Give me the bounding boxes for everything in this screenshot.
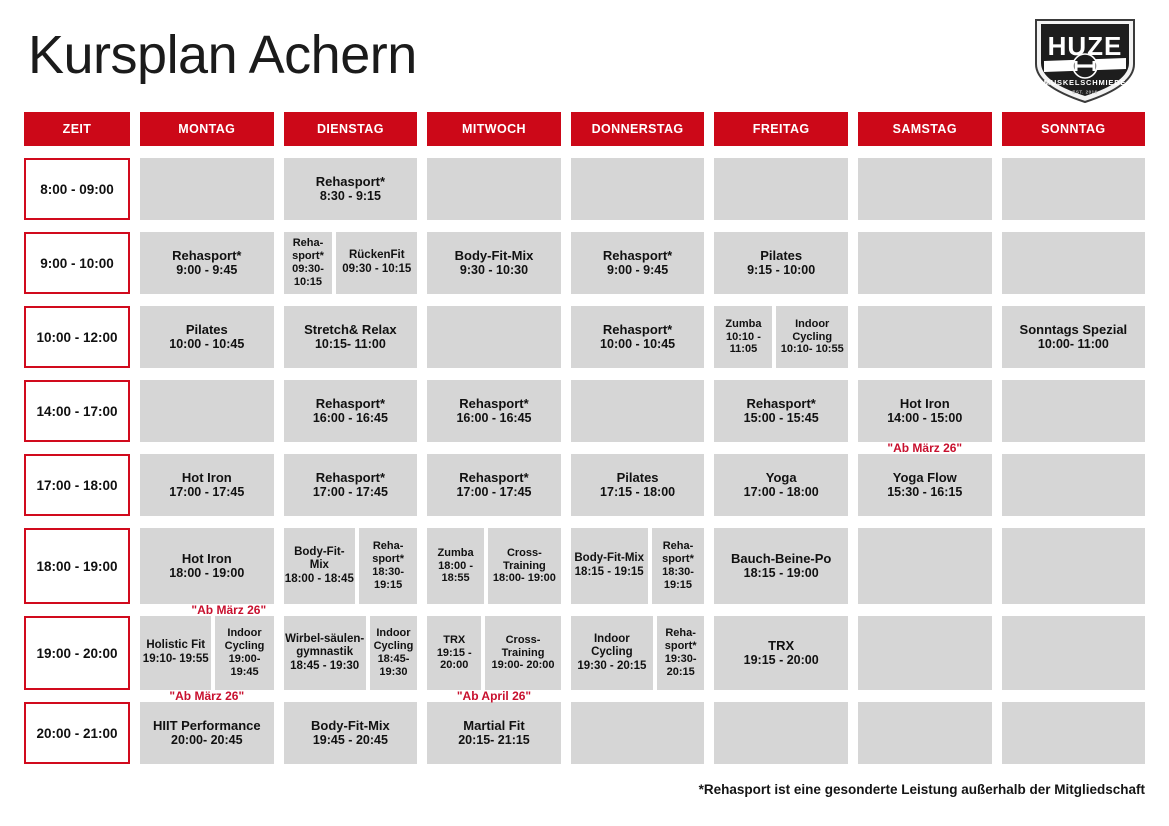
empty-slot bbox=[1002, 528, 1146, 604]
class-slot[interactable]: Pilates9:15 - 10:00 bbox=[714, 232, 848, 294]
class-slot[interactable]: Reha-sport*18:30- 19:15 bbox=[359, 528, 417, 604]
empty-slot bbox=[1002, 454, 1146, 516]
class-time: 18:45- 19:30 bbox=[371, 653, 416, 679]
cell-banner-note: "Ab März 26" bbox=[858, 441, 992, 455]
schedule-cell-freitag: Yoga17:00 - 18:00 bbox=[714, 454, 848, 516]
class-slot[interactable]: Pilates17:15 - 18:00 bbox=[571, 454, 705, 516]
class-slot[interactable]: Indoor Cycling18:45- 19:30 bbox=[370, 616, 417, 690]
class-time: 10:00 - 10:45 bbox=[600, 337, 675, 352]
schedule-cell-donnerstag: Pilates17:15 - 18:00 bbox=[571, 454, 705, 516]
class-slot[interactable]: Wirbel-säulen-gymnastik18:45 - 19:30 bbox=[284, 616, 366, 690]
empty-slot bbox=[1002, 380, 1146, 442]
column-header-zeit[interactable]: ZEIT bbox=[24, 112, 130, 146]
class-name: Indoor Cycling bbox=[777, 318, 846, 344]
class-slot[interactable]: Indoor Cycling19:30 - 20:15 bbox=[571, 616, 653, 690]
schedule-cell-dienstag: Rehasport*17:00 - 17:45 bbox=[284, 454, 418, 516]
class-name: Yoga bbox=[766, 470, 797, 485]
class-time: 20:00- 20:45 bbox=[171, 733, 243, 748]
class-time: 18:00 - 18:45 bbox=[285, 573, 354, 587]
class-time: 15:00 - 15:45 bbox=[744, 411, 819, 426]
empty-slot bbox=[858, 306, 992, 368]
class-slot[interactable]: Cross-Training19:00- 20:00 bbox=[485, 616, 560, 690]
class-time: 17:15 - 18:00 bbox=[600, 485, 675, 500]
class-name: Rehasport* bbox=[172, 248, 241, 263]
class-slot[interactable]: TRX19:15 - 20:00 bbox=[427, 616, 481, 690]
schedule-cell-sonntag bbox=[1002, 454, 1146, 516]
class-time: 10:10- 10:55 bbox=[781, 343, 844, 356]
schedule-row: 17:00 - 18:00Hot Iron17:00 - 17:45Rehasp… bbox=[24, 454, 1146, 516]
schedule-cell-montag: "Ab März 26"Holistic Fit19:10- 19:55Indo… bbox=[140, 616, 274, 690]
schedule-cell-dienstag: Body-Fit-Mix19:45 - 20:45 bbox=[284, 702, 418, 764]
class-slot[interactable]: Rehasport*9:00 - 9:45 bbox=[571, 232, 705, 294]
empty-slot bbox=[1002, 158, 1146, 220]
time-slot-label: 17:00 - 18:00 bbox=[24, 454, 130, 516]
class-time: 20:15- 21:15 bbox=[458, 733, 530, 748]
class-slot[interactable]: Hot Iron14:00 - 15:00 bbox=[858, 380, 992, 442]
class-slot[interactable]: RückenFit09:30 - 10:15 bbox=[336, 232, 417, 294]
class-time: 18:45 - 19:30 bbox=[290, 660, 359, 674]
empty-slot bbox=[140, 380, 274, 442]
class-time: 18:00 - 19:00 bbox=[169, 566, 244, 581]
class-slot[interactable]: Indoor Cycling19:00- 19:45 bbox=[215, 616, 273, 690]
class-slot[interactable]: Rehasport*9:00 - 9:45 bbox=[140, 232, 274, 294]
column-header-mittwoch[interactable]: MITWOCH bbox=[427, 112, 561, 146]
class-name: Reha-sport* bbox=[285, 237, 332, 263]
class-name: Hot Iron bbox=[900, 396, 950, 411]
empty-slot bbox=[571, 158, 705, 220]
schedule-cell-freitag bbox=[714, 158, 848, 220]
cell-banner-note: "Ab März 26" bbox=[140, 689, 274, 703]
class-time: 17:00 - 17:45 bbox=[313, 485, 388, 500]
class-time: 14:00 - 15:00 bbox=[887, 411, 962, 426]
class-name: Body-Fit-Mix bbox=[285, 546, 354, 573]
class-name: Pilates bbox=[186, 322, 228, 337]
class-time: 19:30 - 20:15 bbox=[577, 660, 646, 674]
class-slot[interactable]: Body-Fit-Mix9:30 - 10:30 bbox=[427, 232, 561, 294]
class-time: 18:30- 19:15 bbox=[360, 566, 416, 592]
class-slot[interactable]: Hot Iron18:00 - 19:00 bbox=[140, 528, 274, 604]
class-name: Zumba bbox=[438, 547, 474, 560]
class-slot[interactable]: Yoga Flow15:30 - 16:15 bbox=[858, 454, 992, 516]
schedule-row: 10:00 - 12:00Pilates10:00 - 10:45Stretch… bbox=[24, 306, 1146, 368]
class-name: Rehasport* bbox=[459, 470, 528, 485]
time-slot-label: 20:00 - 21:00 bbox=[24, 702, 130, 764]
schedule-cell-montag bbox=[140, 158, 274, 220]
class-name: Indoor Cycling bbox=[371, 627, 416, 653]
schedule-cell-dienstag: Rehasport*16:00 - 16:45 bbox=[284, 380, 418, 442]
column-header-montag[interactable]: MONTAG bbox=[140, 112, 274, 146]
schedule-cell-donnerstag: Body-Fit-Mix18:15 - 19:15Reha-sport*18:3… bbox=[571, 528, 705, 604]
class-name: Holistic Fit bbox=[146, 639, 205, 653]
class-slot[interactable]: Sonntags Spezial10:00- 11:00 bbox=[1002, 306, 1146, 368]
schedule-cell-mittwoch bbox=[427, 306, 561, 368]
empty-slot bbox=[427, 158, 561, 220]
class-name: Body-Fit-Mix bbox=[574, 552, 644, 566]
class-time: 17:00 - 18:00 bbox=[744, 485, 819, 500]
column-header-samstag[interactable]: SAMSTAG bbox=[858, 112, 992, 146]
class-slot[interactable]: Reha-sport*09:30- 10:15 bbox=[284, 232, 333, 294]
time-slot-label: 14:00 - 17:00 bbox=[24, 380, 130, 442]
schedule-grid: ZEITMONTAGDIENSTAGMITWOCHDONNERSTAGFREIT… bbox=[24, 112, 1146, 764]
class-name: Rehasport* bbox=[316, 396, 385, 411]
schedule-cell-samstag bbox=[858, 158, 992, 220]
empty-slot bbox=[858, 158, 992, 220]
class-slot[interactable]: TRX19:15 - 20:00 bbox=[714, 616, 848, 690]
schedule-cell-sonntag bbox=[1002, 158, 1146, 220]
schedule-cell-dienstag: Reha-sport*09:30- 10:15RückenFit09:30 - … bbox=[284, 232, 418, 294]
class-slot[interactable]: Rehasport*17:00 - 17:45 bbox=[427, 454, 561, 516]
empty-slot bbox=[858, 702, 992, 764]
empty-slot bbox=[571, 380, 705, 442]
empty-slot bbox=[714, 702, 848, 764]
class-time: 9:00 - 9:45 bbox=[607, 263, 668, 278]
schedule-cell-samstag: Hot Iron14:00 - 15:00 bbox=[858, 380, 992, 442]
class-time: 19:30- 20:15 bbox=[658, 653, 703, 679]
schedule-cell-donnerstag: Rehasport*9:00 - 9:45 bbox=[571, 232, 705, 294]
class-time: 19:00- 20:00 bbox=[492, 659, 555, 672]
class-name: Reha-sport* bbox=[653, 540, 704, 566]
class-name: Sonntags Spezial bbox=[1020, 322, 1128, 337]
schedule-cell-montag: Pilates10:00 - 10:45 bbox=[140, 306, 274, 368]
schedule-cell-samstag: "Ab März 26"Yoga Flow15:30 - 16:15 bbox=[858, 454, 992, 516]
class-time: 19:00- 19:45 bbox=[216, 653, 272, 679]
class-name: TRX bbox=[443, 634, 465, 647]
class-name: RückenFit bbox=[349, 249, 405, 263]
schedule-cell-mittwoch: TRX19:15 - 20:00Cross-Training19:00- 20:… bbox=[427, 616, 561, 690]
schedule-cell-mittwoch: Zumba18:00 - 18:55Cross-Training18:00- 1… bbox=[427, 528, 561, 604]
empty-slot bbox=[1002, 616, 1146, 690]
class-name: Martial Fit bbox=[463, 718, 524, 733]
class-time: 19:10- 19:55 bbox=[143, 653, 209, 667]
class-name: Rehasport* bbox=[603, 248, 672, 263]
schedule-row: 14:00 - 17:00Rehasport*16:00 - 16:45Reha… bbox=[24, 380, 1146, 442]
class-name: Indoor Cycling bbox=[216, 627, 272, 653]
class-name: Rehasport* bbox=[603, 322, 672, 337]
time-slot-label: 8:00 - 09:00 bbox=[24, 158, 130, 220]
class-name: Zumba bbox=[725, 318, 761, 331]
schedule-cell-samstag bbox=[858, 702, 992, 764]
class-name: Body-Fit-Mix bbox=[455, 248, 534, 263]
class-time: 9:15 - 10:00 bbox=[747, 263, 815, 278]
class-time: 10:10 - 11:05 bbox=[715, 331, 771, 357]
class-time: 18:15 - 19:00 bbox=[744, 566, 819, 581]
empty-slot bbox=[571, 702, 705, 764]
time-slot-label: 9:00 - 10:00 bbox=[24, 232, 130, 294]
cell-banner-note: "Ab März 26" bbox=[162, 603, 296, 617]
class-name: Rehasport* bbox=[316, 470, 385, 485]
class-time: 18:30- 19:15 bbox=[653, 566, 704, 592]
huze-logo: HUZE MUSKELSCHMIEDE EST. 2016 bbox=[1022, 12, 1148, 108]
class-name: Rehasport* bbox=[316, 174, 385, 189]
class-name: Reha-sport* bbox=[658, 627, 703, 653]
class-slot[interactable]: Rehasport*16:00 - 16:45 bbox=[427, 380, 561, 442]
schedule-cell-mittwoch: Rehasport*16:00 - 16:45 bbox=[427, 380, 561, 442]
schedule-cell-montag: "Ab März 26"HIIT Performance20:00- 20:45 bbox=[140, 702, 274, 764]
class-time: 15:30 - 16:15 bbox=[887, 485, 962, 500]
class-name: Body-Fit-Mix bbox=[311, 718, 390, 733]
kursplan-page: Kursplan Achern HUZE MUSKELSCHMIEDE EST.… bbox=[0, 0, 1169, 826]
schedule-cell-dienstag: Stretch& Relax10:15- 11:00 bbox=[284, 306, 418, 368]
class-slot[interactable]: Pilates10:00 - 10:45 bbox=[140, 306, 274, 368]
schedule-cell-montag: Rehasport*9:00 - 9:45 bbox=[140, 232, 274, 294]
class-slot[interactable]: Rehasport*10:00 - 10:45 bbox=[571, 306, 705, 368]
empty-slot bbox=[858, 528, 992, 604]
class-name: Rehasport* bbox=[746, 396, 815, 411]
class-name: Hot Iron bbox=[182, 551, 232, 566]
class-name: Indoor Cycling bbox=[572, 633, 652, 660]
class-slot[interactable]: Indoor Cycling10:10- 10:55 bbox=[776, 306, 847, 368]
class-name: Cross-Training bbox=[489, 547, 560, 573]
class-slot[interactable]: Rehasport*15:00 - 15:45 bbox=[714, 380, 848, 442]
column-header-sonntag[interactable]: SONNTAG bbox=[1002, 112, 1146, 146]
class-slot[interactable]: Rehasport*16:00 - 16:45 bbox=[284, 380, 418, 442]
schedule-cell-donnerstag: Indoor Cycling19:30 - 20:15Reha-sport*19… bbox=[571, 616, 705, 690]
class-time: 18:15 - 19:15 bbox=[575, 566, 644, 580]
class-time: 10:15- 11:00 bbox=[315, 337, 386, 352]
class-name: Hot Iron bbox=[182, 470, 232, 485]
schedule-row: 8:00 - 09:00Rehasport*8:30 - 9:15 bbox=[24, 158, 1146, 220]
class-slot[interactable]: Hot Iron17:00 - 17:45 bbox=[140, 454, 274, 516]
schedule-row: 20:00 - 21:00"Ab März 26"HIIT Performanc… bbox=[24, 702, 1146, 764]
column-header-dienstag[interactable]: DIENSTAG bbox=[284, 112, 418, 146]
class-time: 10:00 - 10:45 bbox=[169, 337, 244, 352]
class-slot[interactable]: Holistic Fit19:10- 19:55 bbox=[140, 616, 211, 690]
class-time: 19:15 - 20:00 bbox=[428, 647, 480, 673]
column-header-freitag[interactable]: FREITAG bbox=[714, 112, 848, 146]
empty-slot bbox=[858, 616, 992, 690]
class-slot[interactable]: Rehasport*17:00 - 17:45 bbox=[284, 454, 418, 516]
schedule-cell-sonntag bbox=[1002, 380, 1146, 442]
schedule-cell-freitag: Bauch-Beine-Po18:15 - 19:00 bbox=[714, 528, 848, 604]
class-time: 10:00- 11:00 bbox=[1038, 337, 1109, 352]
schedule-cell-sonntag: Sonntags Spezial10:00- 11:00 bbox=[1002, 306, 1146, 368]
schedule-row: 18:00 - 19:00Hot Iron18:00 - 19:00Body-F… bbox=[24, 528, 1146, 604]
schedule-cell-freitag: Rehasport*15:00 - 15:45 bbox=[714, 380, 848, 442]
class-slot[interactable]: Reha-sport*18:30- 19:15 bbox=[652, 528, 705, 604]
class-name: Bauch-Beine-Po bbox=[731, 551, 831, 566]
schedule-cell-montag: Hot Iron18:00 - 19:00 bbox=[140, 528, 274, 604]
class-slot[interactable]: Zumba18:00 - 18:55 bbox=[427, 528, 484, 604]
cell-banner-note: "Ab April 26" bbox=[427, 689, 561, 703]
class-slot[interactable]: Zumba10:10 - 11:05 bbox=[714, 306, 772, 368]
class-time: 16:00 - 16:45 bbox=[456, 411, 531, 426]
class-time: 8:30 - 9:15 bbox=[320, 189, 381, 204]
time-slot-label: 10:00 - 12:00 bbox=[24, 306, 130, 368]
empty-slot bbox=[1002, 232, 1146, 294]
schedule-cell-donnerstag bbox=[571, 380, 705, 442]
class-time: 17:00 - 17:45 bbox=[169, 485, 244, 500]
schedule-cell-montag: Hot Iron17:00 - 17:45 bbox=[140, 454, 274, 516]
schedule-cell-sonntag bbox=[1002, 528, 1146, 604]
schedule-cell-dienstag: Body-Fit-Mix18:00 - 18:45Reha-sport*18:3… bbox=[284, 528, 418, 604]
svg-text:MUSKELSCHMIEDE: MUSKELSCHMIEDE bbox=[1044, 78, 1126, 87]
class-time: 09:30 - 10:15 bbox=[342, 263, 411, 277]
class-slot[interactable]: Body-Fit-Mix19:45 - 20:45 bbox=[284, 702, 418, 764]
schedule-cell-sonntag bbox=[1002, 702, 1146, 764]
empty-slot bbox=[1002, 702, 1146, 764]
schedule-cell-freitag: Zumba10:10 - 11:05Indoor Cycling10:10- 1… bbox=[714, 306, 848, 368]
footnote: *Rehasport ist eine gesonderte Leistung … bbox=[699, 782, 1145, 797]
schedule-cell-dienstag: Rehasport*8:30 - 9:15 bbox=[284, 158, 418, 220]
schedule-cell-samstag bbox=[858, 616, 992, 690]
schedule-cell-donnerstag: Rehasport*10:00 - 10:45 bbox=[571, 306, 705, 368]
page-title: Kursplan Achern bbox=[28, 24, 417, 86]
schedule-cell-sonntag bbox=[1002, 616, 1146, 690]
schedule-cell-donnerstag bbox=[571, 702, 705, 764]
class-name: Pilates bbox=[760, 248, 802, 263]
empty-slot bbox=[140, 158, 274, 220]
class-time: 09:30- 10:15 bbox=[285, 263, 332, 289]
schedule-cell-montag bbox=[140, 380, 274, 442]
class-slot[interactable]: Body-Fit-Mix18:15 - 19:15 bbox=[571, 528, 648, 604]
svg-text:EST. 2016: EST. 2016 bbox=[1072, 90, 1097, 95]
class-time: 17:00 - 17:45 bbox=[456, 485, 531, 500]
class-slot[interactable]: Body-Fit-Mix18:00 - 18:45 bbox=[284, 528, 355, 604]
empty-slot bbox=[858, 232, 992, 294]
class-time: 18:00- 19:00 bbox=[493, 572, 556, 585]
class-slot[interactable]: Martial Fit20:15- 21:15 bbox=[427, 702, 561, 764]
class-name: Stretch& Relax bbox=[304, 322, 396, 337]
schedule-cell-samstag bbox=[858, 306, 992, 368]
class-slot[interactable]: Reha-sport*19:30- 20:15 bbox=[657, 616, 704, 690]
schedule-cell-sonntag bbox=[1002, 232, 1146, 294]
time-slot-label: 19:00 - 20:00 bbox=[24, 616, 130, 690]
schedule-cell-freitag bbox=[714, 702, 848, 764]
schedule-cell-freitag: Pilates9:15 - 10:00 bbox=[714, 232, 848, 294]
class-time: 9:30 - 10:30 bbox=[460, 263, 528, 278]
schedule-cell-freitag: TRX19:15 - 20:00 bbox=[714, 616, 848, 690]
empty-slot bbox=[427, 306, 561, 368]
schedule-cell-samstag bbox=[858, 528, 992, 604]
class-name: TRX bbox=[768, 638, 794, 653]
class-name: Pilates bbox=[617, 470, 659, 485]
class-time: 19:15 - 20:00 bbox=[744, 653, 819, 668]
schedule-cell-mittwoch: Body-Fit-Mix9:30 - 10:30 bbox=[427, 232, 561, 294]
schedule-cell-dienstag: Wirbel-säulen-gymnastik18:45 - 19:30Indo… bbox=[284, 616, 418, 690]
class-slot[interactable]: Cross-Training18:00- 19:00 bbox=[488, 528, 561, 604]
time-slot-label: 18:00 - 19:00 bbox=[24, 528, 130, 604]
schedule-row: 19:00 - 20:00"Ab März 26"Holistic Fit19:… bbox=[24, 616, 1146, 690]
class-slot[interactable]: Rehasport*8:30 - 9:15 bbox=[284, 158, 418, 220]
schedule-cell-donnerstag bbox=[571, 158, 705, 220]
class-time: 19:45 - 20:45 bbox=[313, 733, 388, 748]
class-name: Yoga Flow bbox=[893, 470, 957, 485]
column-header-donnerstag[interactable]: DONNERSTAG bbox=[571, 112, 705, 146]
class-slot[interactable]: Bauch-Beine-Po18:15 - 19:00 bbox=[714, 528, 848, 604]
class-name: Cross-Training bbox=[486, 634, 559, 660]
schedule-cell-mittwoch: "Ab April 26"Martial Fit20:15- 21:15 bbox=[427, 702, 561, 764]
schedule-body: 8:00 - 09:00Rehasport*8:30 - 9:159:00 - … bbox=[24, 158, 1146, 764]
empty-slot bbox=[714, 158, 848, 220]
class-time: 9:00 - 9:45 bbox=[176, 263, 237, 278]
schedule-cell-mittwoch: Rehasport*17:00 - 17:45 bbox=[427, 454, 561, 516]
class-slot[interactable]: Yoga17:00 - 18:00 bbox=[714, 454, 848, 516]
schedule-row: 9:00 - 10:00Rehasport*9:00 - 9:45Reha-sp… bbox=[24, 232, 1146, 294]
schedule-cell-mittwoch bbox=[427, 158, 561, 220]
class-slot[interactable]: HIIT Performance20:00- 20:45 bbox=[140, 702, 274, 764]
class-time: 18:00 - 18:55 bbox=[428, 560, 483, 586]
class-slot[interactable]: Stretch& Relax10:15- 11:00 bbox=[284, 306, 418, 368]
class-name: Rehasport* bbox=[459, 396, 528, 411]
schedule-header-row: ZEITMONTAGDIENSTAGMITWOCHDONNERSTAGFREIT… bbox=[24, 112, 1146, 146]
class-name: Wirbel-säulen-gymnastik bbox=[285, 633, 365, 660]
schedule-cell-samstag bbox=[858, 232, 992, 294]
class-name: Reha-sport* bbox=[360, 540, 416, 566]
class-time: 16:00 - 16:45 bbox=[313, 411, 388, 426]
class-name: HIIT Performance bbox=[153, 718, 261, 733]
